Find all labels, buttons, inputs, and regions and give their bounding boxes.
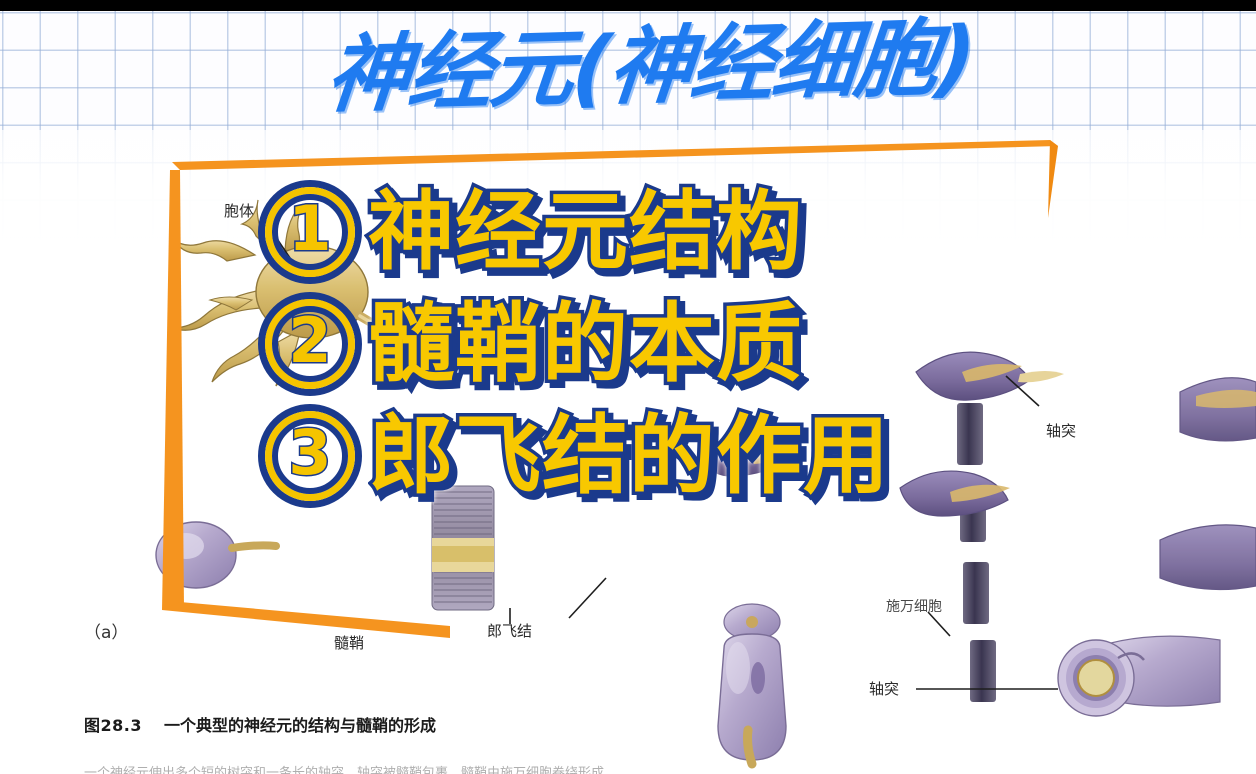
badge-digit: 2 bbox=[288, 310, 331, 372]
number-badge-1: 1 bbox=[258, 180, 362, 284]
number-badge-2: 2 bbox=[258, 292, 362, 396]
figure-caption-text: 一个典型的神经元的结构与髓鞘的形成 bbox=[164, 716, 436, 735]
page-title: 神经元(神经细胞) bbox=[296, 12, 1004, 120]
node-of-ranvier-bars bbox=[957, 403, 996, 702]
list-item[interactable]: 2 髓鞘的本质 bbox=[258, 280, 890, 408]
badge-digit: 1 bbox=[288, 198, 331, 260]
number-badge-3: 3 bbox=[258, 404, 362, 508]
figure-caption-number: 图28.3 bbox=[84, 716, 142, 735]
figure-label-myelin: 髓鞘 bbox=[334, 632, 364, 653]
figure-caption: 图28.3一个典型的神经元的结构与髓鞘的形成 bbox=[84, 712, 436, 736]
list-item[interactable]: 1 神经元结构 bbox=[258, 168, 890, 296]
figure-label-soma: 胞体 bbox=[224, 200, 254, 221]
badge-digit: 3 bbox=[288, 422, 331, 484]
figure-panel-letter: （a） bbox=[84, 618, 128, 643]
schwann-cell-body bbox=[718, 604, 786, 764]
list-item[interactable]: 3 郎飞结的作用 bbox=[258, 392, 890, 520]
figure-label-node-of-ranvier: 郎飞结 bbox=[487, 620, 532, 641]
axon-terminal-bulb bbox=[156, 522, 276, 588]
figure-label-axon-top: 轴突 bbox=[1046, 420, 1076, 441]
figure-label-schwann-cell: 施万细胞 bbox=[886, 596, 942, 616]
list-item-label: 郎飞结的作用 bbox=[368, 413, 890, 499]
axon-cross-section bbox=[1058, 636, 1220, 716]
list-item-label: 髓鞘的本质 bbox=[368, 301, 803, 387]
screenshot-root: 胞体 髓鞘 郎飞结 轴突 轴突 施万细胞 （a） 图28.3一个典型的神经元的结… bbox=[0, 0, 1256, 774]
figure-label-axon-bottom: 轴突 bbox=[869, 678, 899, 699]
figure-caption-sub: 一个神经元伸出多个短的树突和一条长的轴突，轴突被髓鞘包裹，髓鞘由施万细胞卷绕形成 bbox=[84, 762, 604, 774]
list-item-label: 神经元结构 bbox=[368, 189, 803, 275]
top-letterbox-bar bbox=[0, 0, 1256, 11]
headline-list: 1 神经元结构 2 髓鞘的本质 3 郎飞结的作用 bbox=[258, 168, 890, 504]
